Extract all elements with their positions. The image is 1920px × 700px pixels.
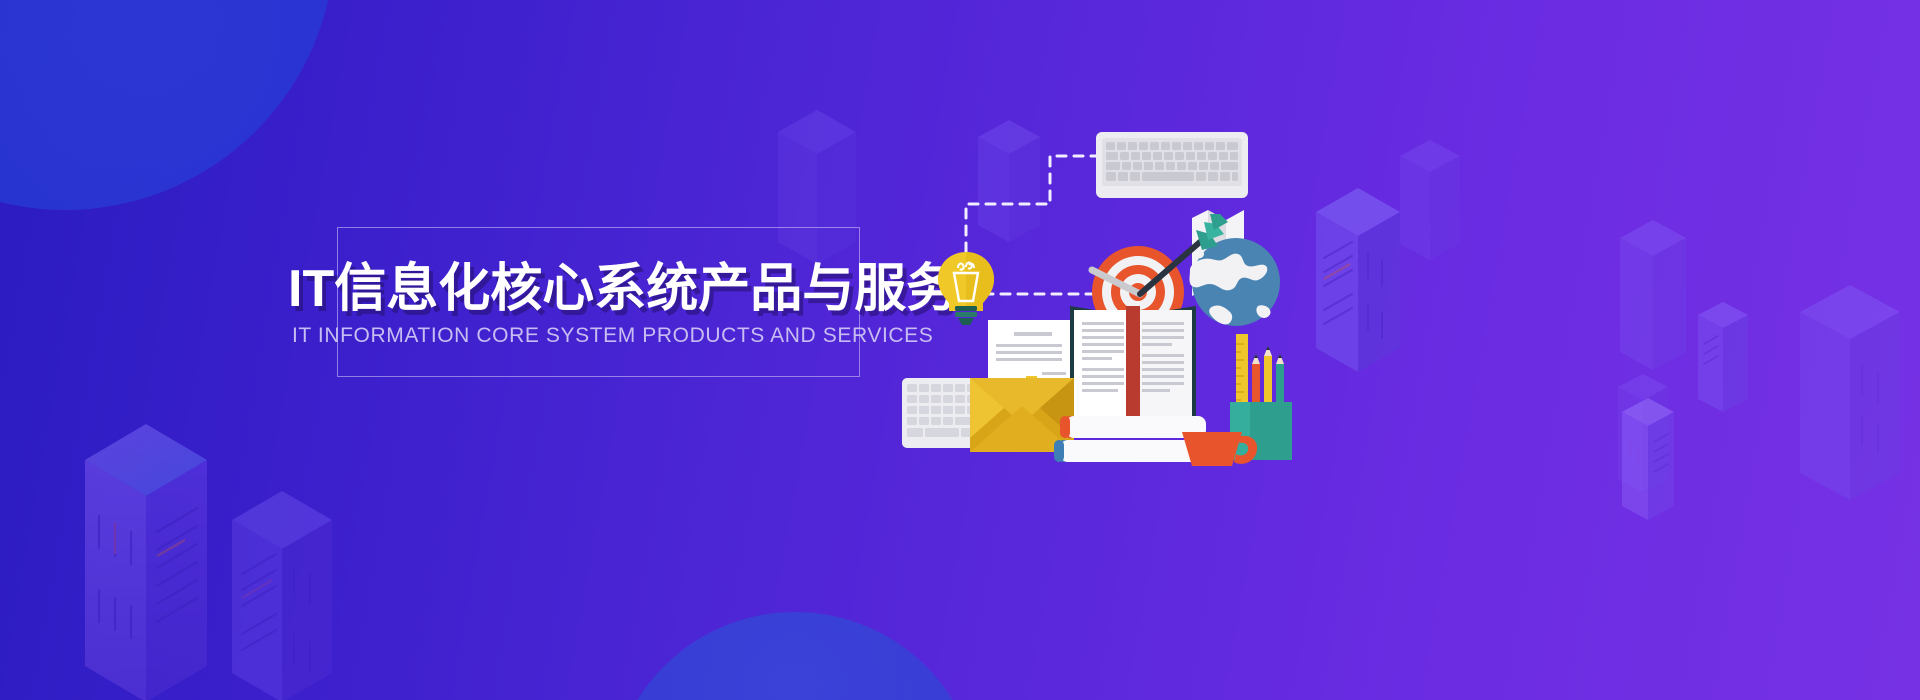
hero-banner: IT信息化核心系统产品与服务 IT INFORMATION CORE SYSTE… [0, 0, 1920, 700]
bottom-center-circle-decoration [610, 612, 980, 700]
page-title: IT信息化核心系统产品与服务 [288, 258, 908, 320]
building-right-g [1622, 396, 1674, 520]
building-right-e [1800, 282, 1900, 500]
building-right-d [1698, 300, 1748, 412]
open-book-icon [1070, 306, 1196, 428]
building-right-b [1400, 138, 1460, 260]
keyboard-large-icon [1096, 132, 1248, 198]
keyboard-small-icon [902, 378, 978, 448]
globe-icon [1190, 238, 1281, 326]
dashed-connector-path [966, 156, 1096, 252]
building-left-tall [85, 420, 207, 700]
building-left-short [232, 488, 332, 700]
building-right-c [1620, 218, 1686, 370]
stacked-books-icon [1054, 416, 1206, 462]
it-office-illustration [900, 110, 1300, 480]
page-subtitle: IT INFORMATION CORE SYSTEM PRODUCTS AND … [292, 322, 912, 350]
lightbulb-icon [938, 252, 994, 325]
building-right-a [1316, 186, 1400, 372]
top-left-circle-decoration [0, 0, 335, 210]
